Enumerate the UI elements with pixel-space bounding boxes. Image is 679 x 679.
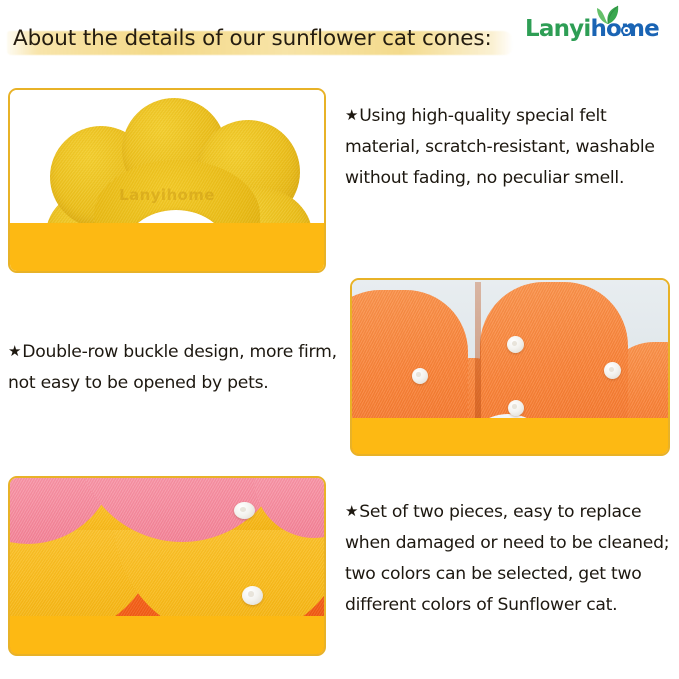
feature-material-text: Using high-quality special felt material… [345,106,655,188]
photo-orange-snaps [350,278,670,456]
star-bullet-icon: ★ [345,502,358,520]
feature-set: ★Set of two pieces, easy to replace when… [345,496,675,621]
brand-wordmark: Lanyihome [525,17,659,42]
page-title: About the details of our sunflower cat c… [13,20,492,56]
star-bullet-icon: ★ [345,106,358,124]
snap-button-icon [508,400,524,416]
photo-bottom-band [10,616,324,654]
feature-set-text: Set of two pieces, easy to replace when … [345,502,669,615]
photo-yellow-cone: Lanyihome [8,88,326,273]
snap-button-icon [412,368,428,384]
snap-button-icon [234,502,255,519]
photo-layered-petals [8,476,326,656]
snap-button-icon [507,336,524,353]
page-title-text: About the details of our sunflower cat c… [13,26,492,51]
page-header: About the details of our sunflower cat c… [0,0,679,76]
product-detail-infographic: { "page": { "title": "About the details … [0,0,679,679]
photo-bottom-band [352,418,668,454]
feature-buckle-text: Double-row buckle design, more firm, not… [8,342,337,393]
photo-bottom-band [10,223,324,271]
star-bullet-icon: ★ [8,342,21,360]
snap-button-icon [604,362,621,379]
feature-buckle: ★Double-row buckle design, more firm, no… [8,336,346,399]
feature-material: ★Using high-quality special felt materia… [345,100,675,194]
logo-o-dot-icon [621,25,632,36]
snap-button-icon [242,586,263,605]
brand-logo: Lanyihome [525,8,665,44]
brand-name-green: Lanyi [525,16,590,42]
